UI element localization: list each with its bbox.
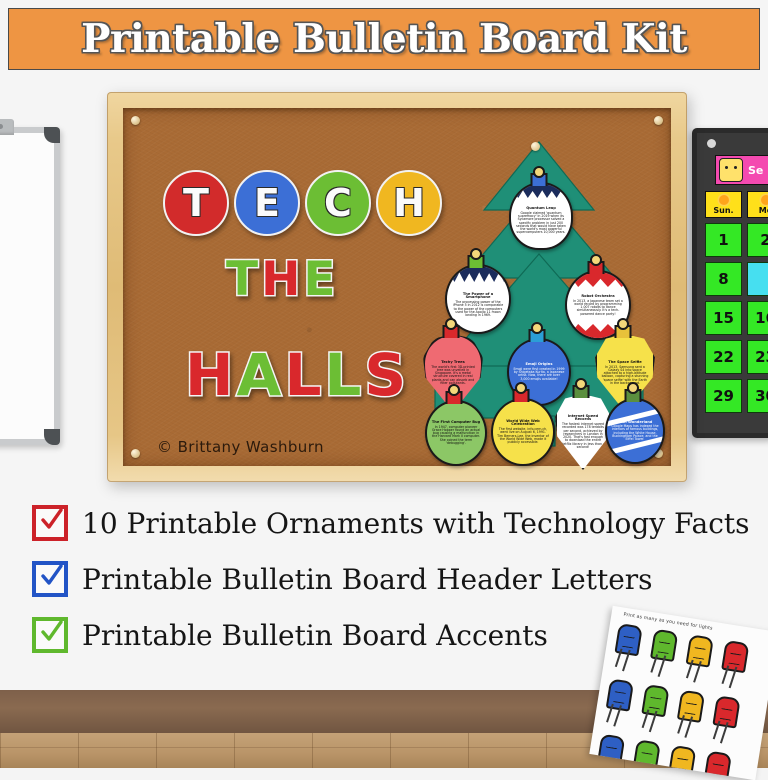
letter-glyph: S xyxy=(364,346,406,404)
calendar-day-cell[interactable]: 29 xyxy=(705,379,742,413)
page-root: Printable Bulletin Board Kit Se Sun. Mo xyxy=(0,0,768,768)
calendar-title: Se xyxy=(748,164,763,177)
calendar-day-cell[interactable]: 16 xyxy=(747,301,768,335)
ornament-fact: The fastest internet speed recorded was … xyxy=(561,423,605,449)
ornament-fact: The first website, info.cern.ch, went li… xyxy=(497,428,549,444)
letter-circle-c: C xyxy=(305,170,371,236)
ornament-card[interactable]: Quantum Leap Google claimed 'quantum sup… xyxy=(509,170,569,250)
ornament-title: Techy Trees xyxy=(441,361,465,365)
header-letters-tech: T E C H xyxy=(163,170,442,236)
calendar-week-row: 1 2 xyxy=(705,223,768,257)
ornament-fact: The world's first 3D-printed tree was un… xyxy=(429,366,477,386)
calendar-day-cell[interactable]: 30 xyxy=(747,379,768,413)
whiteboard-surface xyxy=(0,133,54,439)
ornament-card[interactable]: The First Computer Bug In 1947, computer… xyxy=(425,388,483,466)
calendar-week-row: 29 30 xyxy=(705,379,768,413)
ornament-title: The Power of a Smartphone xyxy=(451,293,505,300)
letter-circle-e: E xyxy=(234,170,300,236)
ornament-card[interactable]: World Wide Web Celebration The first web… xyxy=(491,386,551,466)
whiteboard-corner-bottom-right xyxy=(44,429,60,445)
checkbox-green[interactable] xyxy=(32,617,68,653)
ornament-title: The First Computer Bug xyxy=(432,421,480,425)
calendar-day-header-label: Mo xyxy=(759,206,768,215)
check-icon xyxy=(40,620,64,644)
led-bulb-icon xyxy=(600,678,633,728)
led-bulb-icon xyxy=(698,750,731,780)
ornament-fact: In 1947, computer pioneer Grace Hopper f… xyxy=(431,426,481,446)
calendar-grid: Sun. Mo 1 2 8 15 16 22 23 xyxy=(705,191,768,418)
led-bulb-icon xyxy=(680,634,713,684)
calendar-day-cell[interactable]: 2 xyxy=(747,223,768,257)
letter-glyph: H xyxy=(261,256,300,303)
letter-circle-t: T xyxy=(163,170,229,236)
calendar-knob-icon xyxy=(707,139,716,148)
checklist-item[interactable]: 10 Printable Ornaments with Technology F… xyxy=(32,505,762,541)
bracket-screw-icon xyxy=(0,124,3,129)
ornament-title: Internet Speed Records xyxy=(561,415,605,422)
calendar-week-row: 15 16 xyxy=(705,301,768,335)
letter-glyph: H xyxy=(185,346,234,404)
calendar-day-header-label: Sun. xyxy=(713,206,733,215)
ornament-card[interactable]: Internet Speed Records The fastest inter… xyxy=(555,382,607,470)
ornament-fact: In 2013, Samsung sent a Galaxy S4 into s… xyxy=(601,366,649,386)
checklist-label: 10 Printable Ornaments with Technology F… xyxy=(82,507,750,540)
letter-glyph: E xyxy=(254,184,280,222)
whiteboard-mount-bracket xyxy=(0,119,14,135)
ornament-title: World Wide Web Celebration xyxy=(497,420,549,427)
led-bulb-icon xyxy=(716,639,749,689)
push-pin-icon xyxy=(531,142,540,151)
letter-glyph: E xyxy=(303,256,335,303)
calendar-week-row: 22 23 xyxy=(705,340,768,374)
calendar-avatar-icon xyxy=(719,158,743,182)
calendar-event-card[interactable] xyxy=(747,262,768,296)
board-cork-surface: T E C H T H E H A L L xyxy=(123,108,671,466)
checkbox-blue[interactable] xyxy=(32,561,68,597)
cork-bulletin-board: T E C H T H E H A L L xyxy=(107,92,687,482)
led-grid xyxy=(591,623,748,780)
calendar-day-header: Sun. xyxy=(705,191,742,218)
led-bulb-icon xyxy=(707,695,740,745)
paper-christmas-tree: Quantum Leap Google claimed 'quantum sup… xyxy=(419,136,659,466)
letter-glyph: C xyxy=(324,184,352,222)
led-bulb-icon xyxy=(671,689,704,739)
push-pin-icon xyxy=(654,116,663,125)
calendar-day-cell[interactable]: 23 xyxy=(747,340,768,374)
letter-glyph: L xyxy=(324,346,361,404)
led-bulb-icon xyxy=(636,683,669,733)
letter-glyph: A xyxy=(237,346,282,404)
push-pin-icon xyxy=(131,116,140,125)
ornament-fact: Emoji were first created in 1999 by Shig… xyxy=(513,368,565,381)
page-title: Printable Bulletin Board Kit xyxy=(81,16,687,62)
whiteboard xyxy=(0,127,60,445)
calendar-day-cell[interactable]: 8 xyxy=(705,262,742,296)
letter-glyph: T xyxy=(183,184,209,222)
header-banner: Printable Bulletin Board Kit xyxy=(8,8,760,70)
sun-icon xyxy=(719,195,729,205)
ornament-fact: In 2013, a Japanese team set a world rec… xyxy=(571,300,625,316)
check-icon xyxy=(40,508,64,532)
ornament-fact: Google claimed 'quantum supremacy' in 20… xyxy=(515,212,567,235)
calendar-title-card: Se xyxy=(715,155,768,185)
ornament-fact: Google Maps has indexed the interiors of… xyxy=(611,425,659,441)
header-letters-the: T H E xyxy=(226,256,336,303)
led-bulb-icon xyxy=(663,744,696,780)
led-row xyxy=(600,678,740,744)
calendar-header-row: Sun. Mo xyxy=(705,191,768,218)
led-printable-sheet[interactable]: Print as many as you need for lights xyxy=(589,606,768,780)
ornament-card[interactable]: Tech Wonderland Google Maps has indexed … xyxy=(605,386,661,464)
calendar-day-cell[interactable]: 22 xyxy=(705,340,742,374)
calendar-day-header: Mo xyxy=(747,191,768,218)
push-pin-icon xyxy=(131,449,140,458)
checkbox-red[interactable] xyxy=(32,505,68,541)
ornament-title: The Space Selfie xyxy=(608,361,641,365)
classroom-calendar-board: Se Sun. Mo 1 2 8 15 xyxy=(692,128,768,438)
led-bulb-icon xyxy=(609,623,642,673)
calendar-day-cell[interactable]: 1 xyxy=(705,223,742,257)
calendar-day-cell[interactable]: 15 xyxy=(705,301,742,335)
copyright-text: © Brittany Washburn xyxy=(157,438,324,456)
calendar-week-row: 8 xyxy=(705,262,768,296)
header-letters-halls: H A L L S xyxy=(185,346,406,404)
letter-glyph: T xyxy=(226,256,258,303)
sun-icon xyxy=(761,195,768,205)
checklist-item[interactable]: Printable Bulletin Board Header Letters xyxy=(32,561,762,597)
ornament-fact: The processing power of the iPhone 5 in … xyxy=(451,301,505,317)
checklist-label: Printable Bulletin Board Header Letters xyxy=(82,563,653,596)
led-bulb-icon xyxy=(627,739,660,780)
check-icon xyxy=(40,564,64,588)
led-row xyxy=(609,623,749,689)
letter-glyph: L xyxy=(284,346,321,404)
checklist-label: Printable Bulletin Board Accents xyxy=(82,619,548,652)
led-bulb-icon xyxy=(645,628,678,678)
